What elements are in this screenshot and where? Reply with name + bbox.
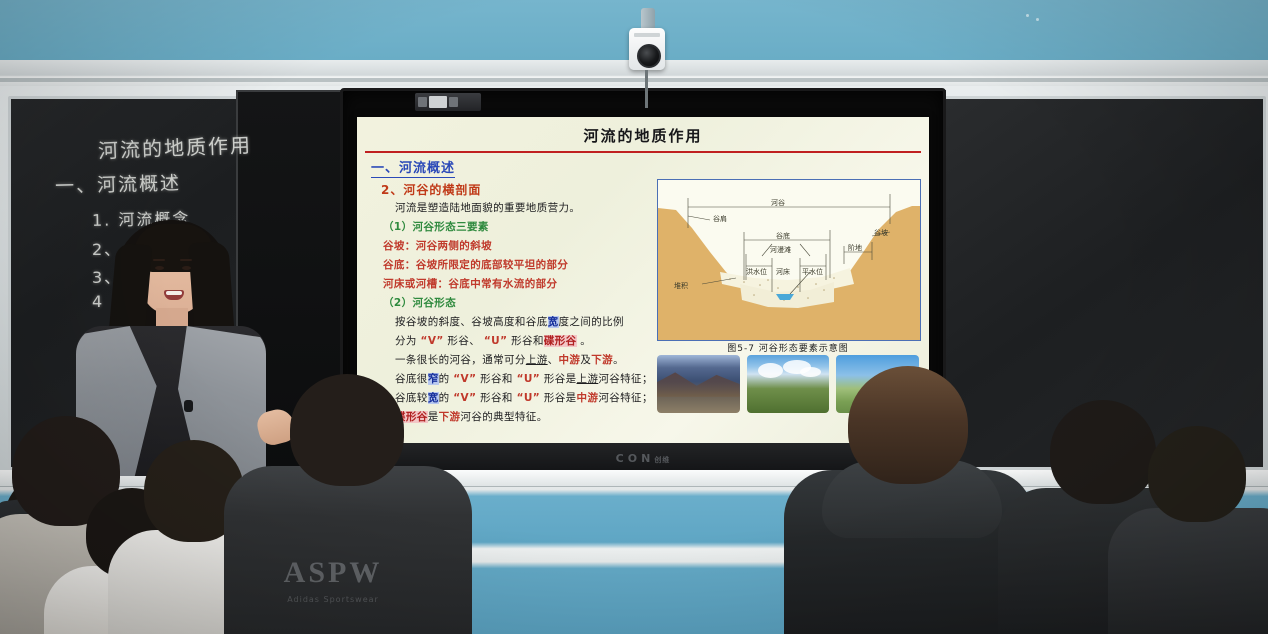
chalk-line-title: 河流的地质作用 — [98, 129, 253, 164]
diagram-label-floodplain: 河漫滩 — [770, 245, 791, 254]
student-head — [290, 374, 404, 486]
chalk-line-section: 一、河流概述 — [55, 168, 182, 198]
diagram-label-floor: 谷底 — [776, 231, 790, 240]
photo-v-valley — [657, 355, 740, 413]
ceiling-speck — [1026, 14, 1029, 17]
slide-body-line: 一条很长的河谷，通常可分上游、中游及下游。 — [383, 355, 651, 366]
student-head — [1148, 426, 1246, 522]
slide-body-line: 谷底很窄的 “V” 形谷和 “U” 形谷是上游河谷特征； — [383, 374, 651, 385]
teacher-eye-right — [182, 266, 191, 270]
jacket-logo: ASPW — [268, 556, 398, 590]
slide-body-line: 河流是塑造陆地面貌的重要地质营力。 — [383, 203, 651, 214]
diagram-label-terrace: 阶地 — [848, 243, 862, 252]
diagram-label-deposit: 堆积 — [674, 281, 688, 290]
slide-body-line: 河床或河槽：谷底中常有水流的部分 — [383, 279, 651, 290]
slide-body-line: （1）河谷形态三要素 — [383, 222, 651, 233]
slide-body-line: 分为 “V” 形谷、 “U” 形谷和碟形谷 。 — [383, 336, 651, 347]
student-shoulders — [1108, 508, 1268, 634]
slide-body-line: （2）河谷形态 — [383, 298, 651, 309]
display-brand-logo: CON创维 — [616, 452, 671, 465]
teacher-eye-left — [155, 266, 164, 270]
slide-body-line: 按谷坡的斜度、谷坡高度和谷底宽度之间的比例 — [383, 317, 651, 328]
diagram-label-shoulder: 谷肩 — [713, 214, 727, 223]
slide-body-line: 谷底：谷坡所限定的底部较平坦的部分 — [383, 260, 651, 271]
student-back-row — [800, 384, 1010, 634]
slide-body-line: 谷坡：河谷两侧的斜坡 — [383, 241, 651, 252]
toolbar-grid-icon[interactable] — [449, 97, 458, 107]
diagram-label-valley: 河谷 — [771, 198, 785, 207]
lapel-microphone-icon — [184, 400, 193, 412]
diagram-label-normal-level: 平水位 — [802, 267, 823, 276]
ceiling-speck-2 — [1036, 18, 1039, 21]
student-shoulders: ASPW Adidas Sportswear — [224, 466, 472, 634]
display-floating-toolbar[interactable] — [415, 93, 481, 111]
valley-diagram-svg: 河谷 谷肩 谷坡 谷底 河漫滩 阶地 洪水位 河床 平水位 堆积 — [658, 180, 920, 340]
diagram-caption: 图5-7 河谷形态要素示意图 — [657, 341, 919, 354]
wall-rail-groove — [0, 78, 1268, 82]
teacher-brow-left — [153, 259, 165, 261]
slide-title: 河流的地质作用 — [357, 125, 929, 146]
slide-sub-heading: 2、河谷的横剖面 — [381, 181, 481, 198]
diagram-label-riverbed: 河床 — [776, 267, 790, 276]
camera-brand-strip — [634, 33, 660, 37]
student-head — [848, 366, 968, 484]
student-with-aspw-jacket: ASPW Adidas Sportswear — [238, 394, 448, 634]
student-back-row — [1118, 444, 1268, 634]
valley-cross-section-diagram: 河谷 谷肩 谷坡 谷底 河漫滩 阶地 洪水位 河床 平水位 堆积 — [657, 179, 921, 341]
classroom-scene: 河流的地质作用 一、河流概述 1. 河流概念 2、 3、 4 河流的地质作用 一… — [0, 0, 1268, 634]
jacket-logo-sub: Adidas Sportswear — [268, 595, 398, 604]
slide-title-rule — [365, 151, 921, 153]
camera-post — [645, 70, 648, 108]
toolbar-window-icon[interactable] — [429, 96, 447, 108]
diagram-label-slope: 谷坡 — [874, 228, 888, 237]
camera-lens-icon — [637, 44, 661, 68]
diagram-label-flood-level: 洪水位 — [746, 267, 767, 276]
slide-section-heading: 一、河流概述 — [371, 157, 455, 178]
teacher-brow-right — [180, 259, 192, 261]
toolbar-menu-icon[interactable] — [418, 97, 427, 107]
